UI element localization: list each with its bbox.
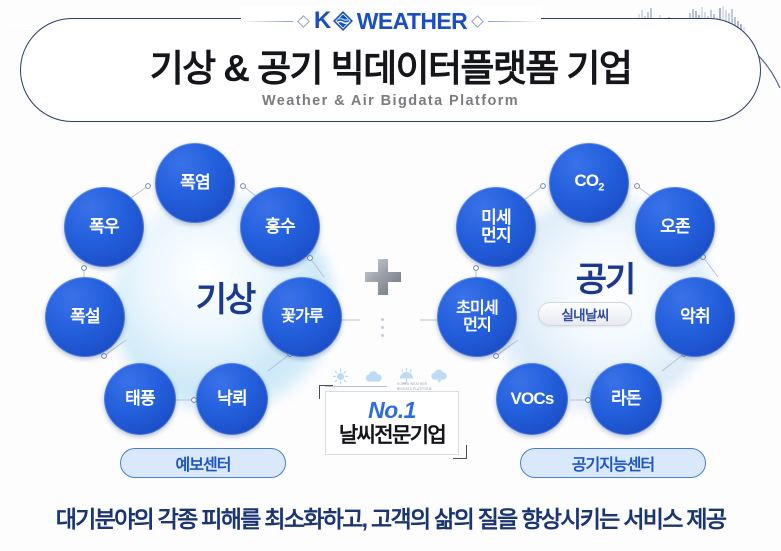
air-node-label-2: 악취: [680, 308, 710, 326]
air-node-label-6: 미세먼지: [481, 209, 511, 246]
logo-right-rule: [488, 21, 540, 22]
weather-node-label-6: 폭우: [89, 218, 119, 236]
weather-node-label-3: 낙뢰: [217, 390, 247, 408]
air-node-5[interactable]: 초미세먼지: [437, 277, 517, 357]
diamond-dot-right-icon: [471, 15, 484, 28]
air-node-label-4: VOCs: [510, 390, 553, 408]
weather-node-label-4: 태풍: [125, 390, 155, 408]
no1-callout-box: No.1 날씨전문기업: [325, 391, 459, 455]
no1-label: No.1: [368, 399, 416, 422]
air-node-label-0: CO2: [574, 172, 603, 194]
weather-node-0[interactable]: 폭염: [155, 143, 235, 223]
logo-left-rule: [241, 21, 293, 22]
indoor-weather-tag: 실내날씨: [538, 302, 632, 326]
air-node-label-1: 오존: [660, 218, 690, 236]
air-node-4[interactable]: VOCs: [496, 363, 568, 435]
right-center-label: 공기: [540, 252, 670, 301]
sun-icon: [332, 368, 349, 385]
forecast-center-badge[interactable]: 예보센터: [120, 448, 286, 478]
air-node-label-3: 라돈: [611, 390, 641, 408]
air-node-3[interactable]: 라돈: [590, 363, 662, 435]
weather-node-5[interactable]: 폭설: [45, 277, 125, 357]
air-node-label-5: 초미세먼지: [456, 300, 498, 335]
air-node-6[interactable]: 미세먼지: [456, 187, 536, 267]
logo-letter-k: K: [314, 9, 331, 33]
weather-node-label-5: 폭설: [70, 308, 100, 326]
diamond-dot-left-icon: [297, 15, 310, 28]
brand-logo: K WEATHER: [241, 6, 541, 36]
no1-sublabel: 날씨전문기업: [339, 424, 445, 447]
footer-caption: 대기분야의 각종 피해를 최소화하고, 고객의 삶의 질을 향상시키는 서비스 …: [0, 500, 781, 534]
weather-node-1[interactable]: 홍수: [240, 187, 320, 267]
weather-node-6[interactable]: 폭우: [64, 187, 144, 267]
page-subtitle: Weather & Air Bigdata Platform: [0, 93, 781, 109]
plus-icon: [362, 256, 404, 298]
cloud-icon: [364, 369, 383, 384]
page-title: 기상 & 공기 빅데이터플랫폼 기업: [0, 38, 781, 92]
vertical-dots-decoration: [381, 318, 384, 337]
diamond-wave-icon: [332, 10, 354, 32]
weather-node-3[interactable]: 낙뢰: [196, 363, 268, 435]
logo-wordmark: K WEATHER: [314, 9, 467, 33]
slide-canvas: K WEATHER 기상 & 공기 빅데이터플랫폼 기업 Weather & A…: [0, 0, 781, 551]
logo-word-weather: WEATHER: [357, 10, 467, 33]
left-center-label: 기상: [155, 272, 295, 321]
weather-node-label-0: 폭염: [180, 174, 210, 192]
air-node-0[interactable]: CO2: [549, 143, 629, 223]
weather-node-label-1: 홍수: [265, 218, 295, 236]
nobox-rule: [325, 386, 387, 387]
storm-cloud-icon: [430, 368, 448, 385]
air-intelligence-center-badge[interactable]: 공기지능센터: [520, 448, 706, 478]
weather-node-4[interactable]: 태풍: [104, 363, 176, 435]
